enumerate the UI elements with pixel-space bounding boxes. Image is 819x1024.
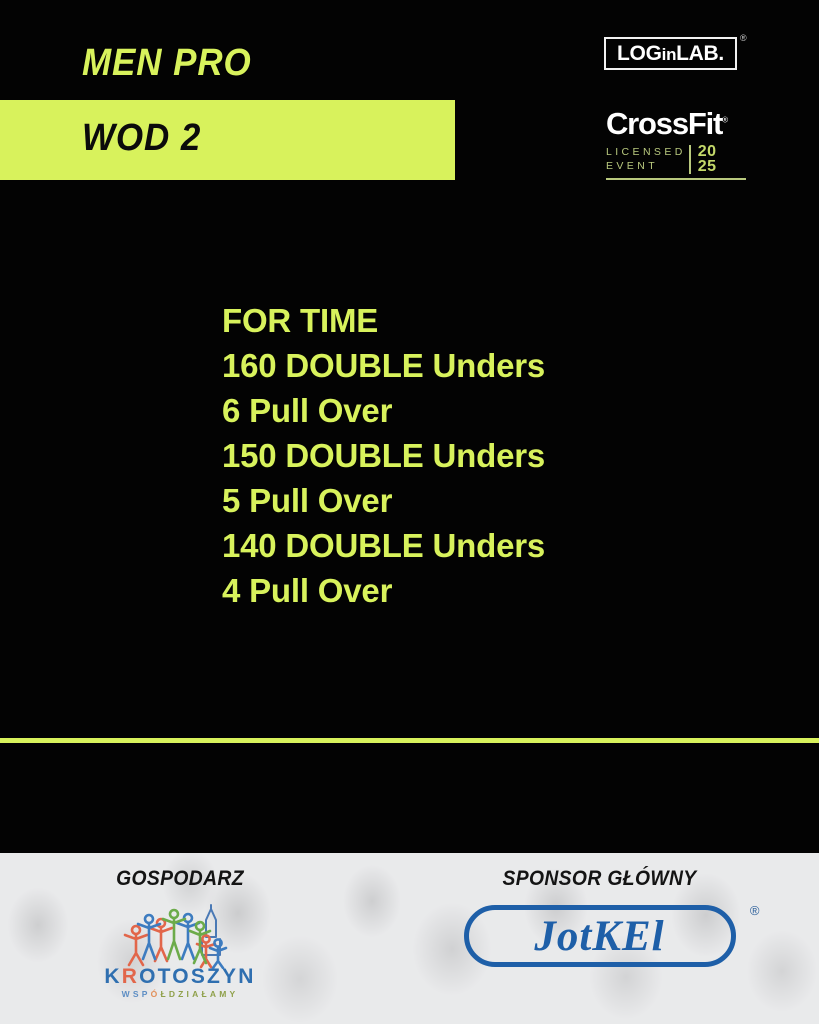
krotoszyn-wordmark: KROTOSZYN <box>0 966 360 988</box>
accent-divider <box>0 738 819 743</box>
host-section: GOSPODARZ <box>0 867 360 999</box>
loginlab-registered-icon: ® <box>740 33 747 43</box>
wod-highlight-bar: WOD 2 <box>0 100 455 180</box>
workout-line: 160 DOUBLE Unders <box>222 343 702 388</box>
workout-line: FOR TIME <box>222 298 702 343</box>
workout-line: 140 DOUBLE Unders <box>222 523 702 568</box>
crossfit-licensed-line1: LICENSED <box>606 145 686 159</box>
loginlab-part-log: LOG <box>617 42 662 65</box>
sponsor-footer: GOSPODARZ <box>0 853 819 1024</box>
jotkel-wordmark: JotKEl <box>534 915 664 958</box>
jotkel-registered-icon: ® <box>750 903 760 918</box>
workout-line: 4 Pull Over <box>222 568 702 613</box>
jotkel-logo-pill: JotKEl <box>464 905 736 967</box>
crossfit-vertical-divider <box>689 145 691 174</box>
crossfit-licensed-line2: EVENT <box>606 159 686 173</box>
crossfit-licensed-lines: LICENSED EVENT <box>606 145 686 173</box>
jotkel-logo: JotKEl ® <box>464 905 736 967</box>
crossfit-year: 20 25 <box>698 144 717 174</box>
loginlab-logo: LOGinLAB. <box>604 37 737 70</box>
wod-number-label: WOD 2 <box>82 117 201 160</box>
sponsor-section: SPONSOR GŁÓWNY JotKEl ® <box>380 867 819 967</box>
loginlab-part-lab: LAB. <box>676 42 724 65</box>
crossfit-trademark-icon: ® <box>722 116 727 125</box>
krotoszyn-logo-icon <box>114 903 246 969</box>
workout-line: 6 Pull Over <box>222 388 702 433</box>
crossfit-licensed-row: LICENSED EVENT 20 25 <box>606 144 748 174</box>
loginlab-logo-text: LOGinLAB. <box>617 43 724 64</box>
krotoszyn-tagline-c: ŁDZIAŁAMY <box>160 989 238 999</box>
division-title: MEN PRO <box>82 42 252 85</box>
host-label: GOSPODARZ <box>14 867 345 891</box>
krotoszyn-figures-icon <box>114 903 246 969</box>
workout-description: FOR TIME 160 DOUBLE Unders 6 Pull Over 1… <box>222 298 702 613</box>
crossfit-name: CrossFit <box>606 106 722 141</box>
workout-line: 5 Pull Over <box>222 478 702 523</box>
crossfit-year-bottom: 25 <box>698 159 717 174</box>
workout-line: 150 DOUBLE Unders <box>222 433 702 478</box>
crossfit-year-top: 20 <box>698 144 717 159</box>
crossfit-underline <box>606 178 746 180</box>
krotoszyn-tagline-a: WSP <box>122 989 151 999</box>
sponsor-label: SPONSOR GŁÓWNY <box>398 867 802 891</box>
loginlab-part-in: in <box>662 45 677 64</box>
krotoszyn-tagline-b: Ó <box>151 989 161 999</box>
crossfit-licensed-event-logo: CrossFit® LICENSED EVENT 20 25 <box>606 108 748 180</box>
krotoszyn-tagline: WSPÓŁDZIAŁAMY <box>0 989 360 999</box>
wod-poster: MEN PRO WOD 2 LOGinLAB. ® CrossFit® LICE… <box>0 0 819 1024</box>
crossfit-wordmark: CrossFit® <box>606 108 727 139</box>
